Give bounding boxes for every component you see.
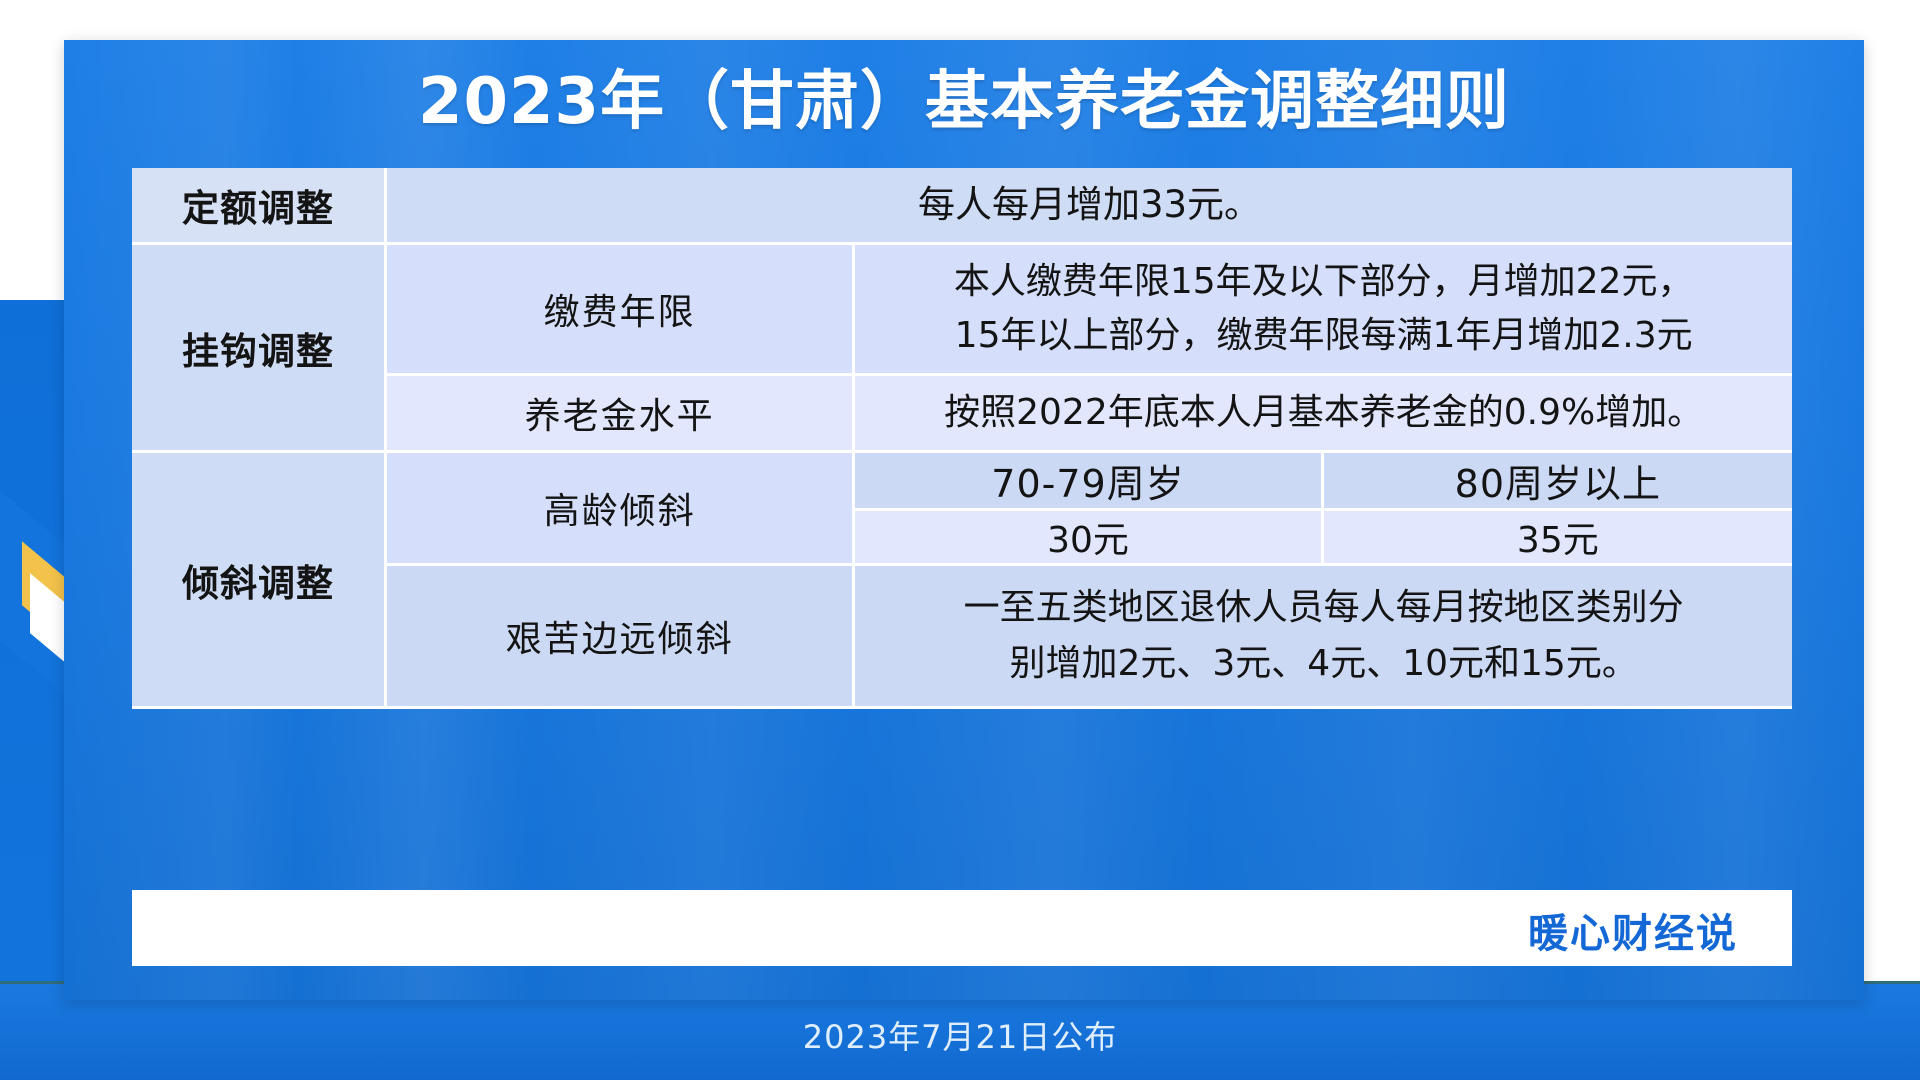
age-bracket-amount-70-79: 30元 xyxy=(855,511,1323,566)
content-card: 2023年（甘肃）基本养老金调整细则 定额调整 每人每月增加33元。 挂钩调整 … xyxy=(64,40,1864,1000)
subitem-label-pension-level: 养老金水平 xyxy=(387,376,855,453)
pension-adjustment-table: 定额调整 每人每月增加33元。 挂钩调整 缴费年限 本人缴费年限15年及以下部分… xyxy=(132,168,1792,709)
value-remote-area-line2: 别增加2元、3元、4元、10元和15元。 xyxy=(877,636,1770,692)
value-remote-area-line1: 一至五类地区退休人员每人每月按地区类别分 xyxy=(877,580,1770,636)
value-remote-area-tilt: 一至五类地区退休人员每人每月按地区类别分 别增加2元、3元、4元、10元和15元… xyxy=(855,566,1792,709)
subitem-label-elderly-tilt: 高龄倾斜 xyxy=(387,453,855,566)
category-label-tilt: 倾斜调整 xyxy=(132,453,387,709)
table-row-linked-years: 挂钩调整 缴费年限 本人缴费年限15年及以下部分，月增加22元， 15年以上部分… xyxy=(132,245,1792,376)
table-row-quota: 定额调整 每人每月增加33元。 xyxy=(132,168,1792,245)
publish-date-label: 2023年7月21日公布 xyxy=(0,1012,1920,1058)
value-contribution-years-line2: 15年以上部分，缴费年限每满1年月增加2.3元 xyxy=(873,309,1774,363)
category-label-quota: 定额调整 xyxy=(132,168,387,245)
page-title: 2023年（甘肃）基本养老金调整细则 xyxy=(64,62,1864,142)
subitem-label-contribution-years: 缴费年限 xyxy=(387,245,855,376)
age-bracket-header-70-79: 70-79周岁 xyxy=(855,453,1323,511)
watermark-label: 暖心财经说 xyxy=(1528,901,1738,959)
card-footer-band: 暖心财经说 xyxy=(132,890,1792,966)
right-white-band xyxy=(1876,0,1920,1080)
value-pension-level: 按照2022年底本人月基本养老金的0.9%增加。 xyxy=(855,376,1792,453)
value-contribution-years: 本人缴费年限15年及以下部分，月增加22元， 15年以上部分，缴费年限每满1年月… xyxy=(855,245,1792,376)
left-white-band xyxy=(0,0,64,300)
age-bracket-amount-80-plus: 35元 xyxy=(1324,511,1792,566)
subitem-label-remote-area-tilt: 艰苦边远倾斜 xyxy=(387,566,855,709)
table-row-tilt-age-header: 倾斜调整 高龄倾斜 70-79周岁 80周岁以上 xyxy=(132,453,1792,511)
value-quota: 每人每月增加33元。 xyxy=(387,168,1792,245)
pension-table-wrapper: 定额调整 每人每月增加33元。 挂钩调整 缴费年限 本人缴费年限15年及以下部分… xyxy=(132,168,1792,709)
value-contribution-years-line1: 本人缴费年限15年及以下部分，月增加22元， xyxy=(873,255,1774,309)
age-bracket-header-80-plus: 80周岁以上 xyxy=(1324,453,1792,511)
category-label-linked: 挂钩调整 xyxy=(132,245,387,453)
infographic-canvas: 2023年（甘肃）基本养老金调整细则 定额调整 每人每月增加33元。 挂钩调整 … xyxy=(0,0,1920,1080)
